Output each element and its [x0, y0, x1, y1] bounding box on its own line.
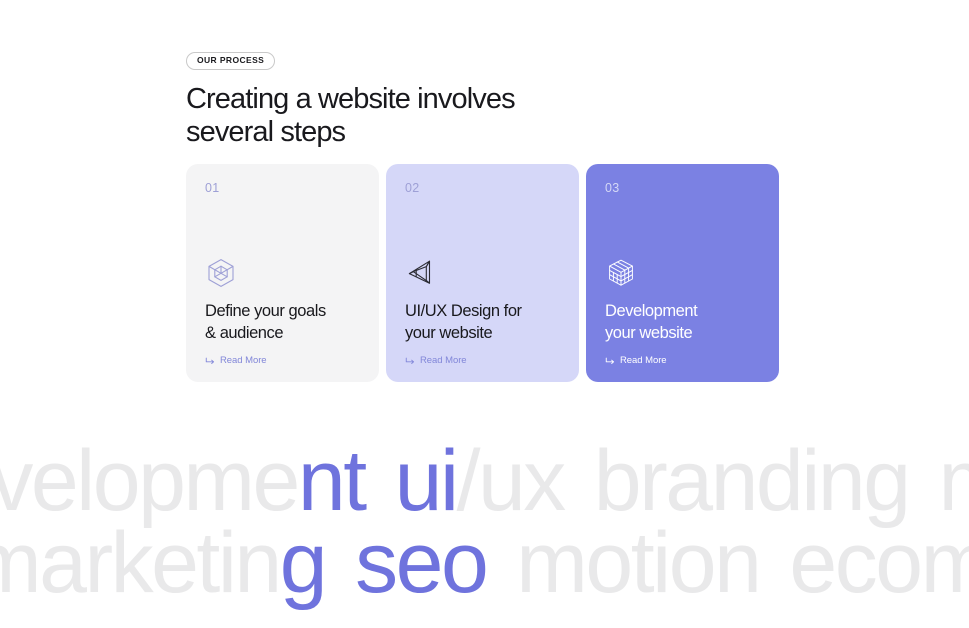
- card-title: Development your website: [605, 300, 760, 344]
- card-title-line-1: Development: [605, 302, 697, 320]
- marquee-word: evelopment: [0, 438, 365, 524]
- process-card-1[interactable]: 01 Define your goals & audience: [186, 164, 379, 382]
- arrow-hook-icon: [605, 356, 615, 366]
- read-more-link[interactable]: Read More: [205, 355, 360, 366]
- marquee-word: ecomm: [789, 520, 969, 606]
- marquee-row-1: evelopmentui/uxbrandingmo: [0, 438, 969, 524]
- marquee-word: mo: [939, 438, 969, 524]
- marquee-word: branding: [594, 438, 909, 524]
- card-title-line-2: your website: [605, 324, 692, 342]
- marquee-word-highlight: seo: [355, 520, 486, 606]
- marquee-seg-highlight: ui: [395, 438, 457, 524]
- marquee-row-2: marketingseomotionecomm: [0, 520, 969, 606]
- marquee-word: ui/ux: [395, 438, 564, 524]
- headline-line-2: several steps: [186, 116, 345, 148]
- cube-blocks-icon: [605, 257, 760, 291]
- read-more-label: Read More: [620, 355, 667, 366]
- arrow-hook-icon: [205, 356, 215, 366]
- card-number: 02: [405, 182, 560, 195]
- marquee-seg-highlight: nt: [298, 438, 365, 524]
- section-badge: OUR PROCESS: [186, 52, 275, 70]
- card-title: UI/UX Design for your website: [405, 300, 560, 344]
- hexagon-cube-icon: [205, 257, 360, 291]
- card-number: 03: [605, 182, 760, 195]
- process-card-list: 01 Define your goals & audience: [186, 164, 779, 382]
- marquee-seg: marketin: [0, 520, 280, 606]
- process-card-3[interactable]: 03 Development your website: [586, 164, 779, 382]
- section-header: OUR PROCESS Creating a website involves …: [186, 50, 786, 149]
- card-number: 01: [205, 182, 360, 195]
- page-title: Creating a website involves several step…: [186, 83, 616, 149]
- card-title-line-2: & audience: [205, 324, 283, 342]
- marquee-seg-highlight: g: [280, 520, 325, 606]
- marquee-word: motion: [516, 520, 759, 606]
- read-more-label: Read More: [420, 355, 467, 366]
- card-title: Define your goals & audience: [205, 300, 360, 344]
- read-more-link[interactable]: Read More: [605, 355, 760, 366]
- headline-line-1: Creating a website involves: [186, 83, 515, 115]
- card-title-line-1: UI/UX Design for: [405, 302, 522, 320]
- arrow-hook-icon: [405, 356, 415, 366]
- read-more-label: Read More: [220, 355, 267, 366]
- marquee-seg: /ux: [457, 438, 564, 524]
- card-title-line-1: Define your goals: [205, 302, 326, 320]
- card-title-line-2: your website: [405, 324, 492, 342]
- marquee-word: marketing: [0, 520, 325, 606]
- marquee-seg: evelopme: [0, 438, 298, 524]
- process-section: OUR PROCESS Creating a website involves …: [0, 0, 969, 628]
- read-more-link[interactable]: Read More: [405, 355, 560, 366]
- impossible-triangle-arrow-icon: [405, 257, 560, 291]
- process-card-2[interactable]: 02 UI/UX Design for your website: [386, 164, 579, 382]
